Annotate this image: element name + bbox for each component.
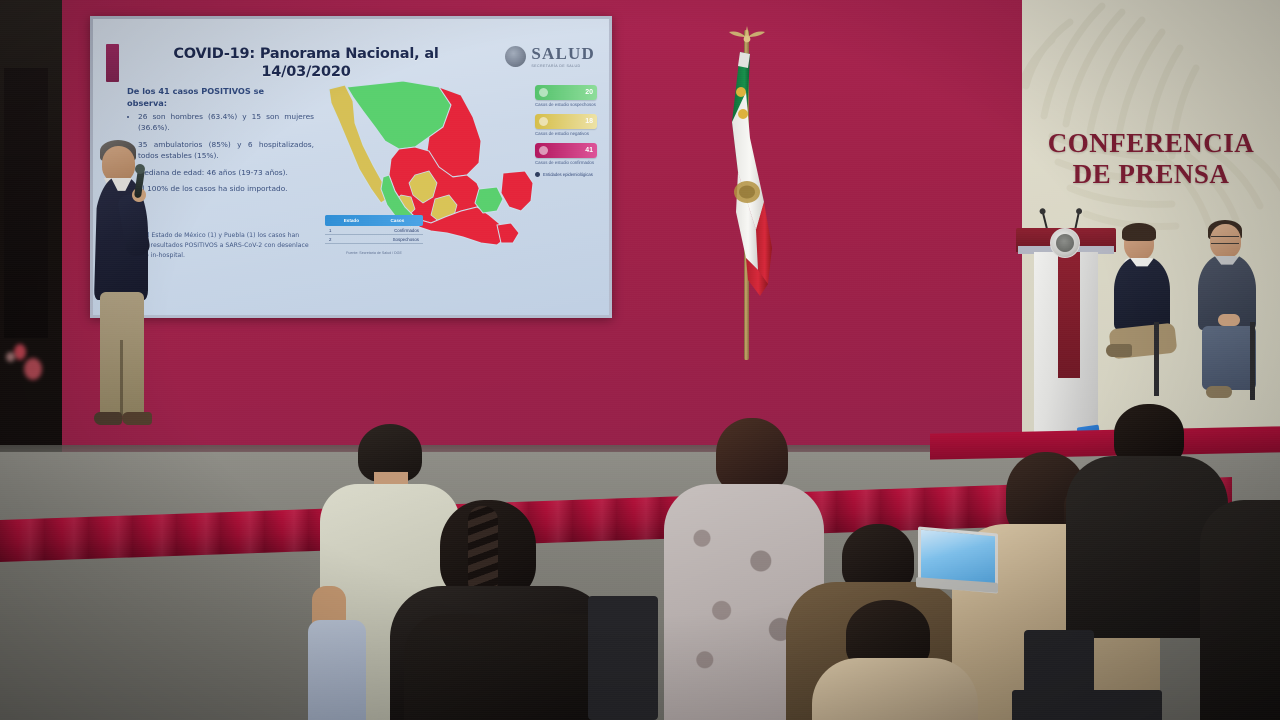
panelist-right: [1196, 222, 1280, 412]
stage-light-c-icon: [6, 352, 15, 362]
legend-caption: Casos de estudio confirmados: [535, 160, 597, 166]
slide-accent-bar: [106, 44, 119, 82]
presenter-shoe-right: [122, 412, 152, 425]
dark-wall-panel: [4, 68, 48, 338]
legend-marker-label: Entidades epidemiológicas: [543, 172, 593, 177]
panelist-left-jacket: [1114, 256, 1170, 330]
map-legend: 20 Casos de estudio sospechosos 18 Casos…: [535, 85, 597, 177]
table-cell: Sospechosos: [393, 237, 419, 242]
microphone-head-icon: [135, 164, 145, 174]
panelist-right-glasses-icon: [1211, 236, 1239, 244]
audience-jeans: [308, 620, 366, 720]
audience-far-right-body: [1200, 500, 1280, 720]
conference-title: CONFERENCIA DE PRENSA: [1022, 128, 1280, 190]
salud-logo: SALUD SECRETARÍA DE SALUD: [505, 45, 595, 68]
press-conference-scene: CONFERENCIA DE PRENSA COVID-19: Panorama…: [0, 0, 1280, 720]
presenter-head: [102, 146, 135, 182]
stage-light-a-icon: [14, 344, 26, 360]
national-seal-icon: [1050, 228, 1080, 258]
legend-chip-pink: 41: [535, 143, 597, 158]
legend-chip-green: 20: [535, 85, 597, 100]
table-cell: 1: [329, 228, 331, 233]
conference-title-line2: DE PRENSA: [1022, 159, 1280, 190]
dark-left-wall: [0, 0, 62, 452]
salud-subtext: SECRETARÍA DE SALUD: [531, 64, 595, 68]
audience-bottom-body: [812, 658, 978, 720]
table-source-note: Fuente: Secretaría de Salud / DGE: [325, 251, 423, 255]
conference-title-line1: CONFERENCIA: [1048, 128, 1255, 158]
podium-red-stripe: [1058, 252, 1080, 378]
legend-dot-icon: [539, 117, 548, 126]
panelist-right-chair: [1250, 322, 1255, 400]
open-laptop-blue-screen[interactable]: [918, 530, 998, 592]
audience-hair: [716, 418, 788, 492]
presenter-leg-split: [120, 340, 123, 416]
legend-dot-icon: [539, 146, 548, 155]
legend-caption: Casos de estudio negativos: [535, 131, 597, 137]
chair-frame: [588, 596, 658, 720]
table-header-cell: Estado: [344, 218, 359, 223]
chair-frame: [1024, 630, 1094, 720]
slide-lead-text: De los 41 casos POSITIVOS se observa:: [127, 85, 299, 110]
legend-caption: Casos de estudio sospechosos: [535, 102, 597, 108]
audience-member-far-right: [1200, 500, 1280, 720]
stage-light-b-icon: [24, 358, 42, 380]
mexican-seal-icon: [505, 46, 526, 67]
panelist-left: [1110, 226, 1198, 406]
panelist-left-shoe: [1106, 344, 1132, 357]
legend-value: 18: [585, 118, 593, 125]
legend-value: 20: [585, 89, 593, 96]
legend-marker-row: Entidades epidemiológicas: [535, 172, 597, 177]
salud-wordmark: SALUD: [531, 45, 595, 62]
table-header-row: Estado Casos: [325, 215, 423, 226]
table-row: 2 Sospechosos: [325, 235, 423, 244]
slide-mini-table: Estado Casos 1 Confirmados 2 Sospechosos…: [325, 215, 423, 255]
panelist-right-shoe: [1206, 386, 1232, 398]
map-region-chiapas-red: [497, 223, 519, 243]
audience-braid-detail: [468, 506, 498, 596]
legend-chip-yellow: 18: [535, 114, 597, 129]
panelist-right-hands: [1218, 314, 1240, 326]
presenter-shoe-left: [94, 412, 122, 425]
mexican-flag: [716, 52, 776, 302]
slide-title-line1: COVID-19: Panorama Nacional, al: [173, 46, 438, 62]
flag-finial-icon: [727, 24, 767, 50]
panelist-left-hair: [1122, 223, 1156, 241]
table-cell: Confirmados: [394, 228, 419, 233]
table-header-cell: Casos: [390, 218, 404, 223]
map-region-yucatan-red: [501, 171, 533, 211]
legend-marker-dot-icon: [535, 172, 540, 177]
audience-member-bottom-center: [818, 600, 968, 720]
panelist-right-legs: [1202, 326, 1256, 390]
table-row: 1 Confirmados: [325, 226, 423, 235]
legend-value: 41: [585, 147, 593, 154]
legend-dot-icon: [539, 88, 548, 97]
presenter-with-microphone: [92, 140, 192, 440]
table-cell: 2: [329, 237, 331, 242]
list-item: 26 son hombres (63.4%) y 15 son mujeres …: [138, 111, 314, 134]
panelist-left-chair: [1154, 322, 1159, 396]
